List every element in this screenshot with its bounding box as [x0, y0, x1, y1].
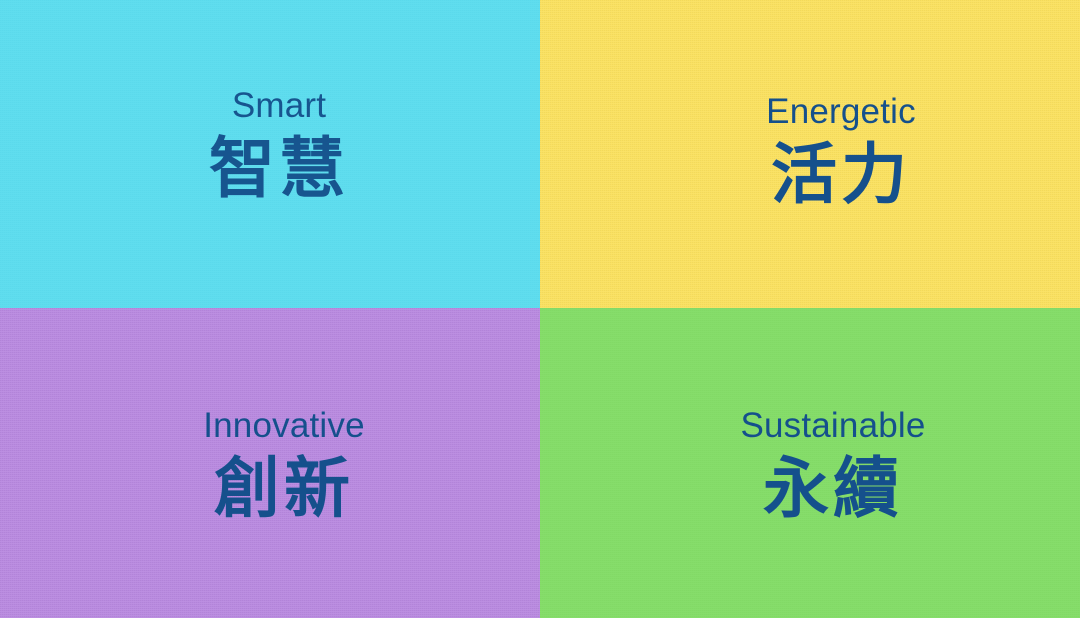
value-cell-innovative[interactable]: Innovative 創新 — [0, 308, 540, 618]
value-cell-energetic[interactable]: Energetic 活力 — [540, 0, 1080, 308]
value-cell-sustainable[interactable]: Sustainable 永續 — [540, 308, 1080, 618]
value-label-en-smart: Smart — [232, 88, 326, 123]
value-label-zh-smart: 智慧 — [209, 135, 349, 201]
value-label-en-energetic: Energetic — [766, 94, 916, 129]
value-label-zh-sustainable: 永續 — [763, 455, 903, 521]
value-text-block-smart: Smart 智慧 — [209, 88, 349, 201]
value-cell-smart[interactable]: Smart 智慧 — [0, 0, 540, 308]
value-label-zh-energetic: 活力 — [771, 141, 911, 207]
brand-values-board: Smart 智慧 Energetic 活力 Innovative 創新 Sust… — [0, 0, 1080, 618]
value-text-block-sustainable: Sustainable 永續 — [740, 408, 925, 521]
value-label-en-innovative: Innovative — [203, 408, 365, 443]
value-label-en-sustainable: Sustainable — [740, 408, 925, 443]
value-text-block-innovative: Innovative 創新 — [203, 408, 365, 521]
value-label-zh-innovative: 創新 — [214, 455, 354, 521]
value-text-block-energetic: Energetic 活力 — [766, 94, 916, 207]
value-grid: Smart 智慧 Energetic 活力 Innovative 創新 Sust… — [0, 0, 1080, 618]
